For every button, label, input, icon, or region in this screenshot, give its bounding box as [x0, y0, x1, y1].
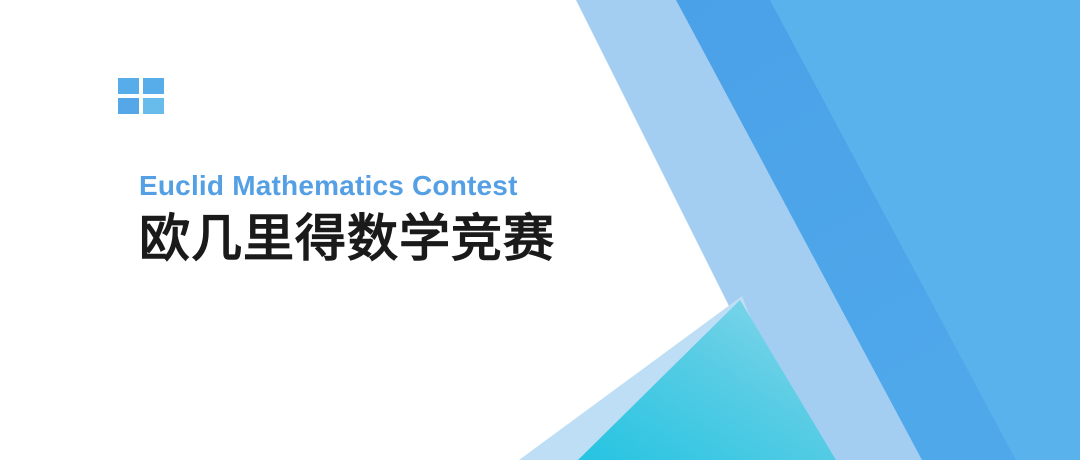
title-english: Euclid Mathematics Contest	[139, 168, 779, 203]
title-block: Euclid Mathematics Contest 欧几里得数学竞赛	[139, 168, 779, 269]
logo-tile-bottom-right	[143, 98, 164, 114]
logo-tile-bottom-left	[118, 98, 139, 114]
logo-tile-top-left	[118, 78, 139, 94]
four-square-logo-icon	[118, 78, 164, 114]
euclid-contest-banner: Euclid Mathematics Contest 欧几里得数学竞赛	[0, 0, 1080, 460]
logo-tile-top-right	[143, 78, 164, 94]
title-chinese: 欧几里得数学竞赛	[139, 209, 779, 269]
